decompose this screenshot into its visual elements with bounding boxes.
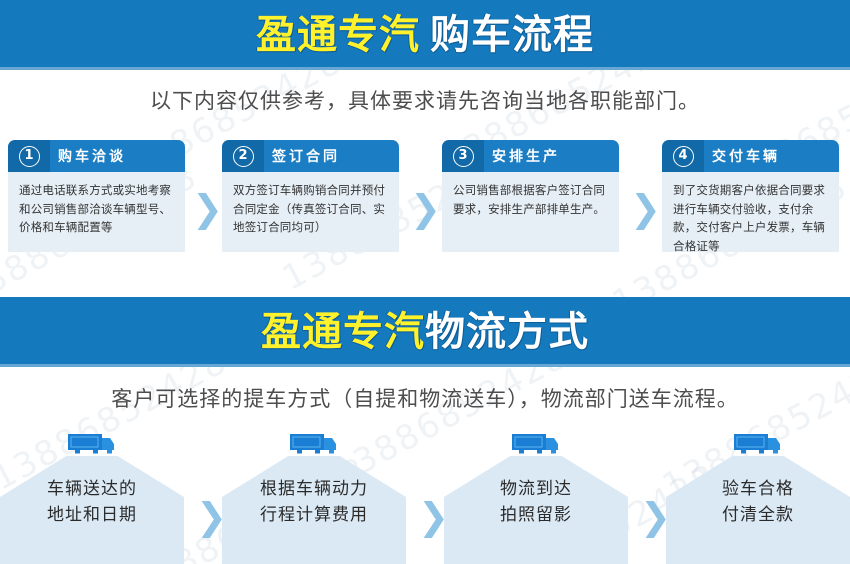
banner-title-brand: 盈通专汽 <box>256 15 420 55</box>
logistics-step-card-1[interactable]: 车辆送达的 地址和日期 <box>0 432 184 564</box>
step-number-circle: 1 <box>19 146 40 167</box>
step-header: 3 安排生产 <box>442 140 619 172</box>
logistics-step-line1: 验车合格 <box>666 476 850 502</box>
step-number-badge: 1 <box>8 146 50 167</box>
step-title: 签订合同 <box>264 146 340 166</box>
logistics-step-card-4[interactable]: 验车合格 付清全款 <box>666 432 850 564</box>
logistics-step-text: 物流到达 拍照留影 <box>444 476 628 529</box>
purchase-step-card-1[interactable]: 1 购车洽谈 通过电话联系方式或实地考察和公司销售部洽谈车辆型号、价格和车辆配置… <box>8 140 185 252</box>
step-title: 购车洽谈 <box>50 146 126 166</box>
logistics-step-line2: 拍照留影 <box>444 502 628 528</box>
purchase-step-card-2[interactable]: 2 签订合同 双方签订车辆购销合同并预付合同定金（传真签订合同、实地签订合同均可… <box>222 140 399 252</box>
step-body-text: 公司销售部根据客户签订合同要求，安排生产部排单生产。 <box>442 172 619 252</box>
chevron-right-icon: ❯ <box>640 498 671 535</box>
truck-icon <box>66 432 118 458</box>
step-title: 交付车辆 <box>704 146 780 166</box>
logistics-subtitle: 客户可选择的提车方式（自提和物流送车），物流部门送车流程。 <box>0 383 850 413</box>
logistics-step-card-3[interactable]: 物流到达 拍照留影 <box>444 432 628 564</box>
logistics-step-text: 车辆送达的 地址和日期 <box>0 476 184 529</box>
truck-icon <box>288 432 340 458</box>
logistics-step-line1: 车辆送达的 <box>0 476 184 502</box>
chevron-right-icon: ❯ <box>410 190 441 227</box>
step-title: 安排生产 <box>484 146 560 166</box>
banner-title-topic: 购车流程 <box>430 15 594 55</box>
logistics-step-line1: 根据车辆动力 <box>222 476 406 502</box>
step-header: 4 交付车辆 <box>662 140 839 172</box>
logistics-step-text: 根据车辆动力 行程计算费用 <box>222 476 406 529</box>
step-number-circle: 2 <box>233 146 254 167</box>
chevron-right-icon: ❯ <box>418 498 449 535</box>
banner-title-topic: 物流方式 <box>425 312 589 352</box>
step-number-badge: 3 <box>442 146 484 167</box>
logistics-step-line2: 行程计算费用 <box>222 502 406 528</box>
step-body-text: 双方签订车辆购销合同并预付合同定金（传真签订合同、实地签订合同均可） <box>222 172 399 252</box>
purchase-process-subtitle: 以下内容仅供参考，具体要求请先咨询当地各职能部门。 <box>0 85 850 115</box>
chevron-right-icon: ❯ <box>630 190 661 227</box>
truck-icon <box>732 432 784 458</box>
logistics-step-line2: 付清全款 <box>666 502 850 528</box>
step-number-badge: 2 <box>222 146 264 167</box>
step-number-badge: 4 <box>662 146 704 167</box>
chevron-right-icon: ❯ <box>192 190 223 227</box>
step-body-text: 通过电话联系方式或实地考察和公司销售部洽谈车辆型号、价格和车辆配置等 <box>8 172 185 252</box>
logistics-step-text: 验车合格 付清全款 <box>666 476 850 529</box>
purchase-process-banner: 盈通专汽 购车流程 <box>0 0 850 70</box>
step-number-circle: 3 <box>453 146 474 167</box>
logistics-step-line1: 物流到达 <box>444 476 628 502</box>
purchase-step-card-4[interactable]: 4 交付车辆 到了交货期客户依据合同要求进行车辆交付验收，支付余款，交付客户上户… <box>662 140 839 252</box>
step-number-circle: 4 <box>673 146 694 167</box>
purchase-step-card-3[interactable]: 3 安排生产 公司销售部根据客户签订合同要求，安排生产部排单生产。 <box>442 140 619 252</box>
logistics-step-line2: 地址和日期 <box>0 502 184 528</box>
logistics-banner: 盈通专汽 物流方式 <box>0 297 850 367</box>
step-header: 1 购车洽谈 <box>8 140 185 172</box>
banner-title-brand: 盈通专汽 <box>261 312 425 352</box>
truck-icon <box>510 432 562 458</box>
step-header: 2 签订合同 <box>222 140 399 172</box>
step-body-text: 到了交货期客户依据合同要求进行车辆交付验收，支付余款，交付客户上户发票，车辆合格… <box>662 172 839 252</box>
logistics-step-card-2[interactable]: 根据车辆动力 行程计算费用 <box>222 432 406 564</box>
chevron-right-icon: ❯ <box>196 498 227 535</box>
